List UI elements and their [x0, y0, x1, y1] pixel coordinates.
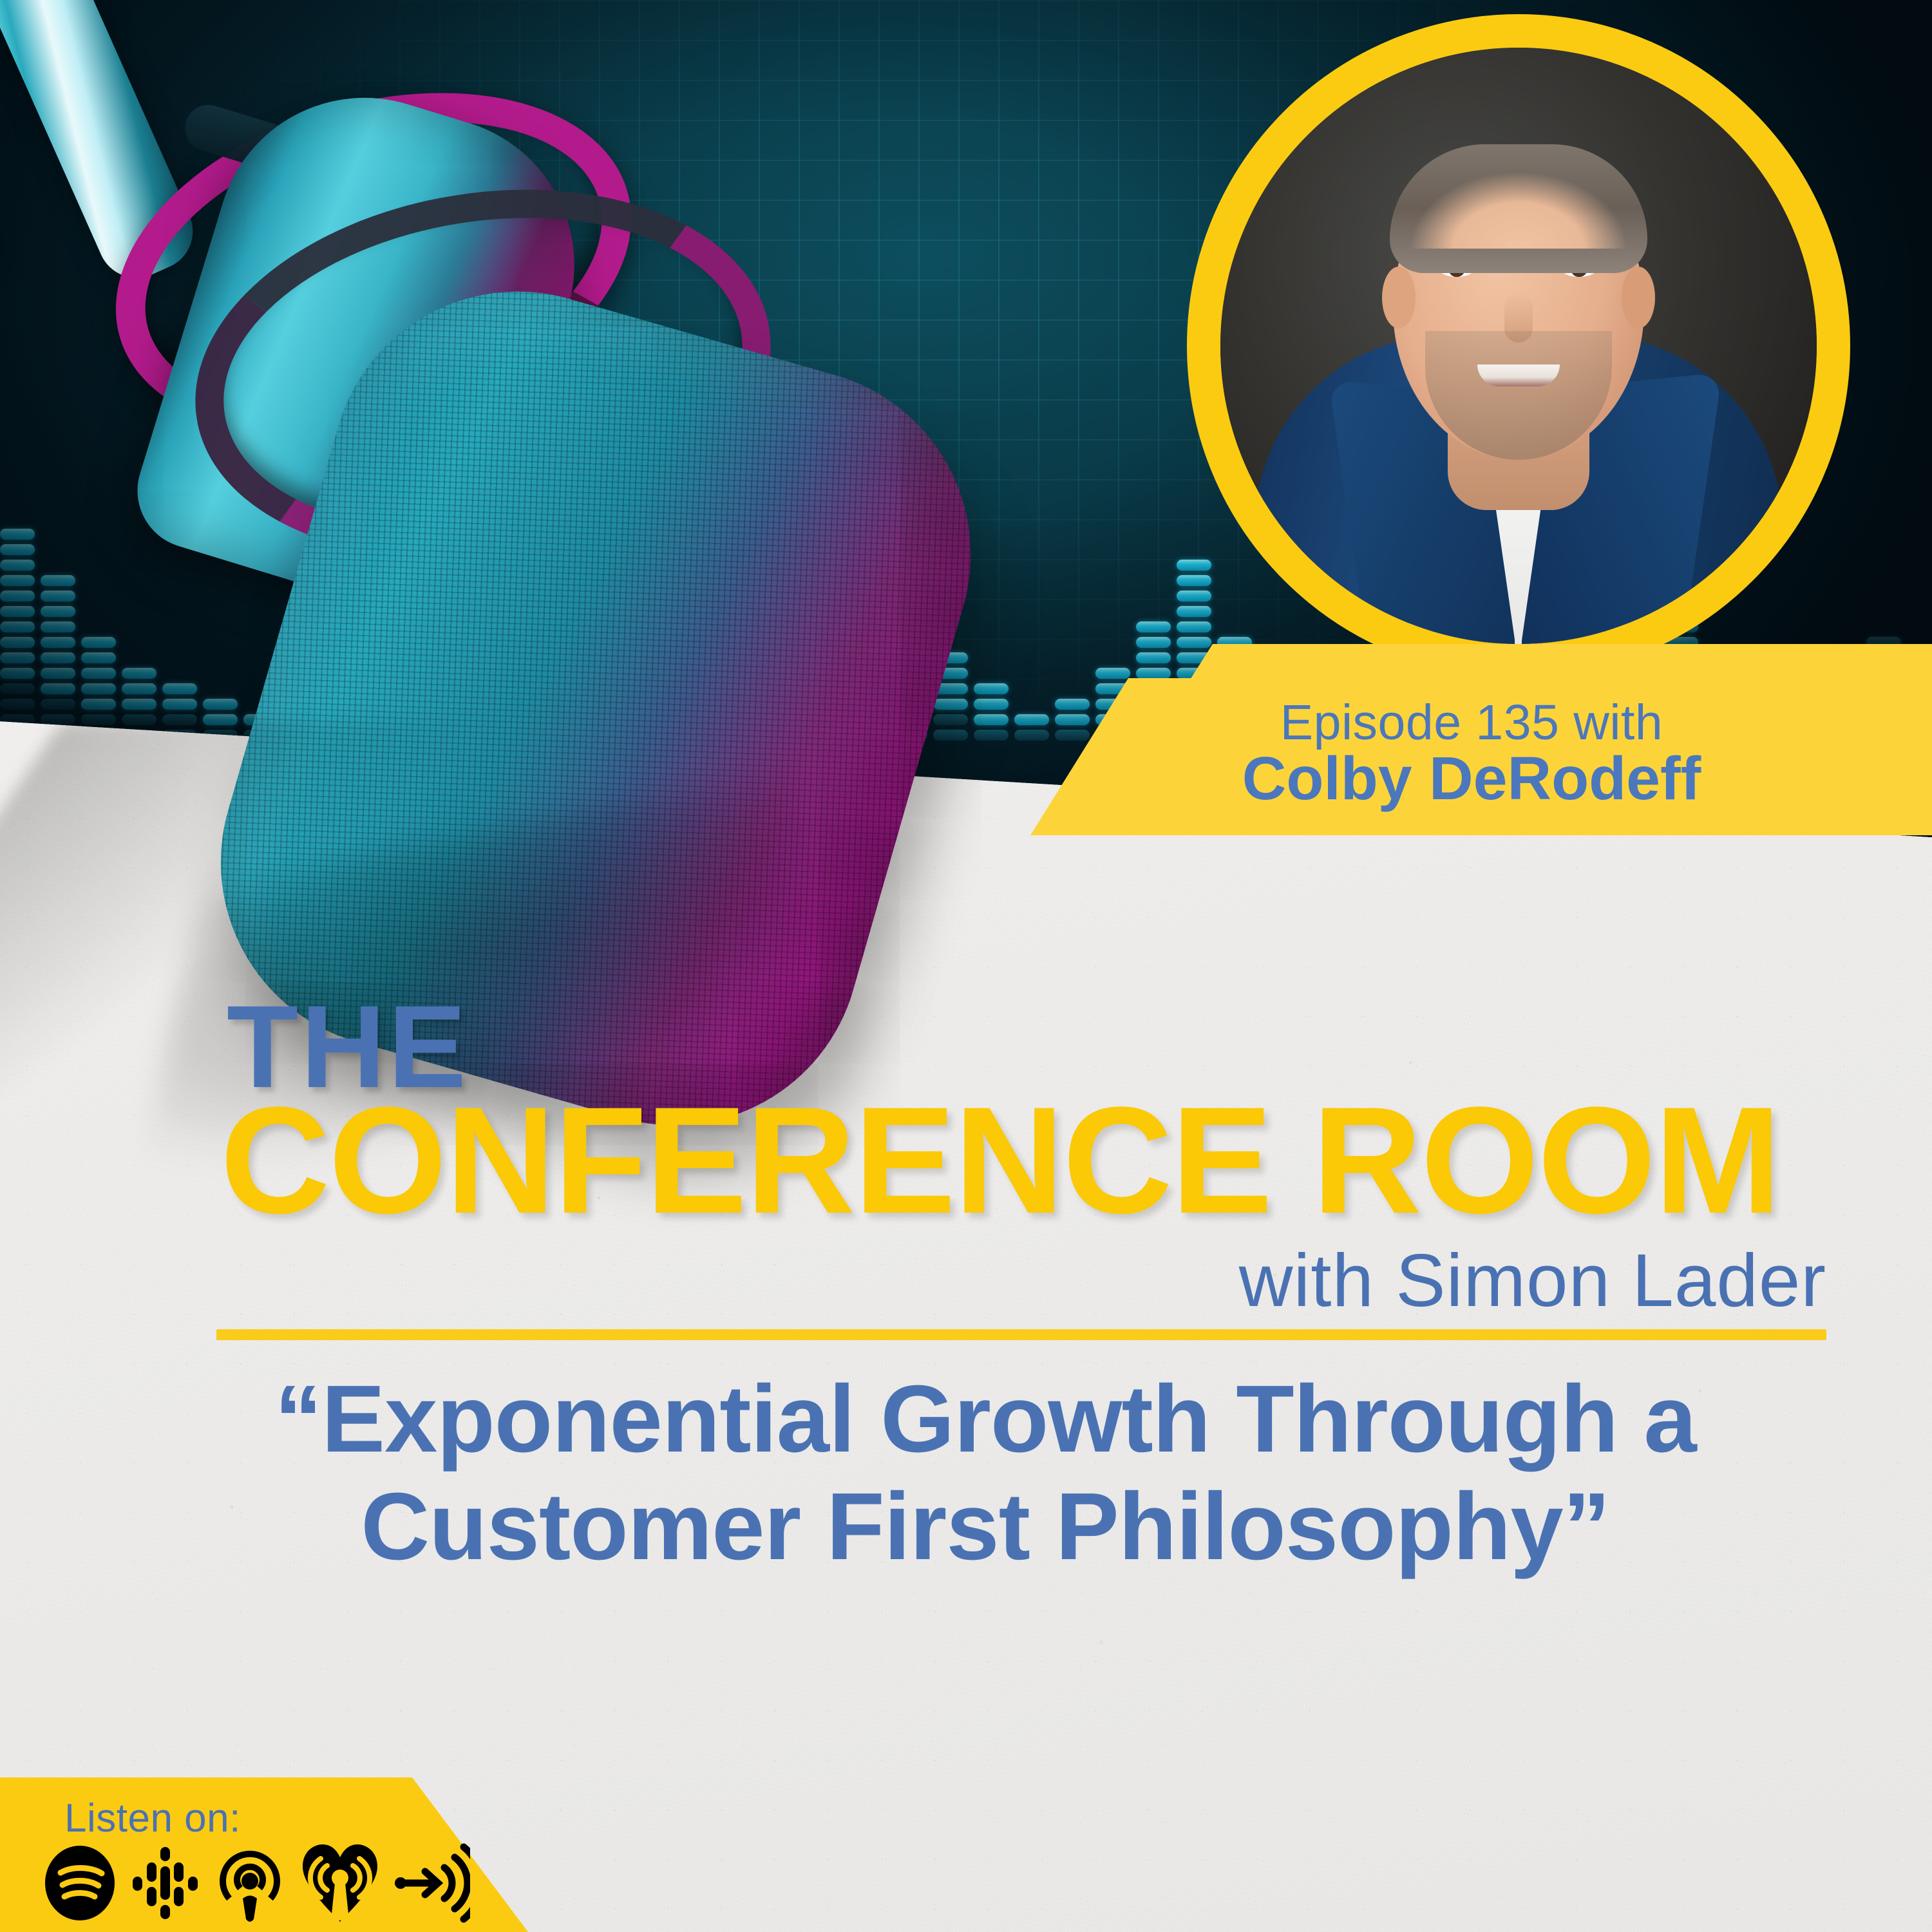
guest-portrait-avatar: [1187, 14, 1850, 677]
portrait-nose: [1504, 292, 1533, 343]
portrait-ear-left: [1382, 267, 1416, 328]
title-divider: [216, 1329, 1826, 1340]
episode-title: “Exponential Growth Through a Customer F…: [116, 1365, 1855, 1580]
spotify-icon[interactable]: [44, 1844, 116, 1922]
portrait-hair: [1390, 144, 1647, 273]
podcast-cover-art: Episode 135 with Colby DeRodeff THE CONF…: [0, 0, 1932, 1932]
episode-banner-tab: [1188, 644, 1932, 683]
show-host-line: with Simon Lader: [0, 1243, 1826, 1318]
portrait-ear-right: [1622, 267, 1655, 328]
apple-podcasts-icon[interactable]: [214, 1843, 286, 1923]
google-podcasts-icon[interactable]: [131, 1844, 198, 1922]
platform-icon-row: [44, 1843, 470, 1923]
listen-on-label: Listen on:: [64, 1795, 241, 1841]
show-title-main: CONFERENCE ROOM: [220, 1084, 1843, 1236]
episode-banner-line1: Episode 135 with: [1030, 694, 1913, 752]
episode-banner-guest-name: Colby DeRodeff: [1030, 744, 1913, 814]
amazon-music-icon[interactable]: [394, 1843, 470, 1923]
portrait-mouth: [1477, 365, 1560, 386]
iheartradio-icon[interactable]: [301, 1843, 379, 1923]
